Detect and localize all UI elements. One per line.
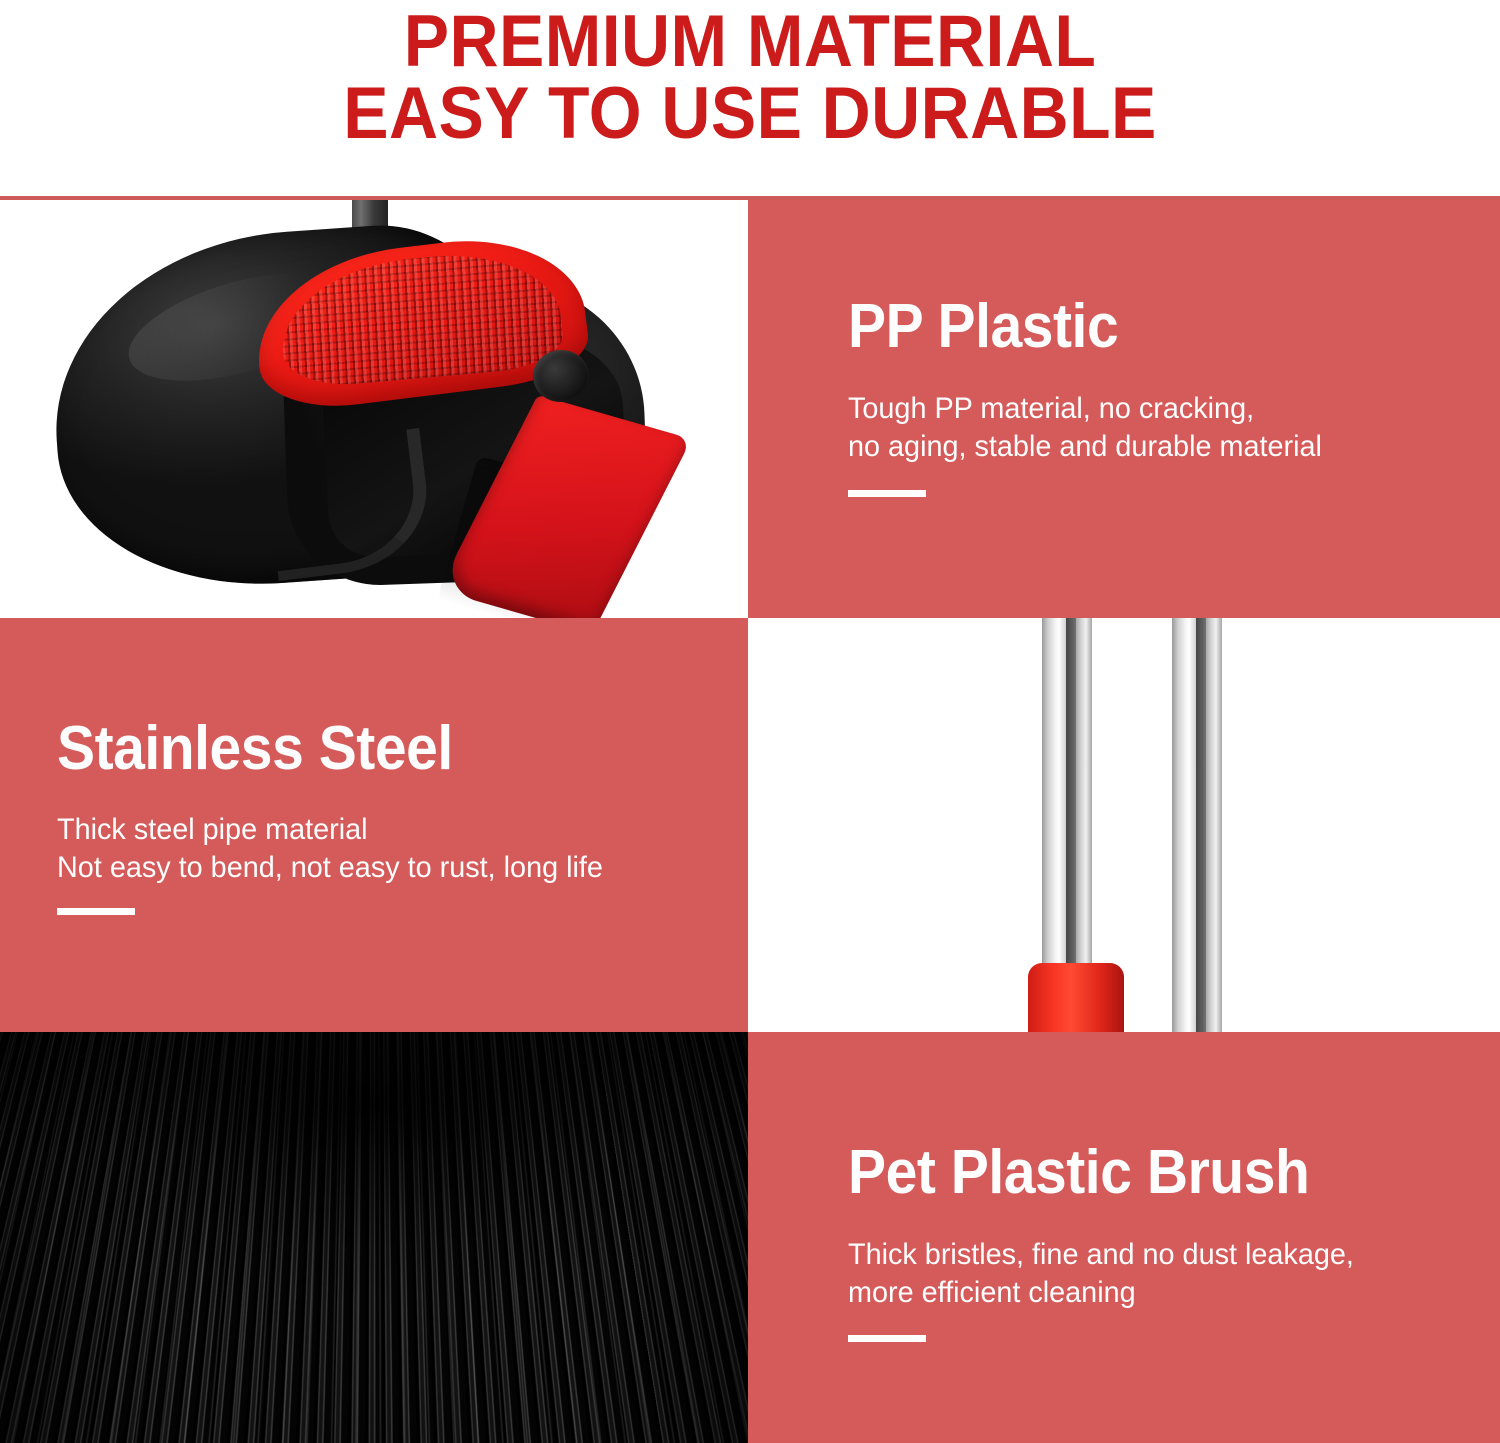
- steel-pole-right-shadow: [1196, 618, 1206, 1032]
- feature-cell-pp-plastic: PP Plastic Tough PP material, no crackin…: [748, 200, 1500, 618]
- bristle-vignette: [0, 1032, 748, 1443]
- photo-cell-dustpan: [0, 200, 748, 618]
- headline-line-2: EASY TO USE DURABLE: [53, 78, 1448, 150]
- steel-pole-left-shadow: [1066, 618, 1076, 970]
- photo-cell-broom-head: [748, 618, 1500, 1032]
- feature-body-pp-plastic: Tough PP material, no cracking, no aging…: [848, 390, 1322, 466]
- bristle-illustration: [0, 1032, 748, 1443]
- feature-text-pp-plastic: PP Plastic Tough PP material, no crackin…: [748, 200, 1500, 618]
- dustpan-body: [55, 222, 675, 612]
- feature-body-line-1: Thick bristles, fine and no dust leakage…: [848, 1236, 1354, 1274]
- feature-grid: PP Plastic Tough PP material, no crackin…: [0, 200, 1500, 1443]
- broom-head-illustration: [748, 618, 1500, 1032]
- feature-body-line-1: Thick steel pipe material: [57, 811, 603, 849]
- feature-cell-stainless-steel: Stainless Steel Thick steel pipe materia…: [0, 618, 748, 1032]
- feature-body-line-2: more efficient cleaning: [848, 1274, 1354, 1312]
- feature-body-line-2: Not easy to bend, not easy to rust, long…: [57, 849, 603, 887]
- headline-line-1: PREMIUM MATERIAL: [53, 6, 1448, 78]
- feature-underline-pp-plastic: [848, 490, 926, 497]
- dustpan-illustration: [0, 200, 748, 618]
- infographic-page: PREMIUM MATERIAL EASY TO USE DURABLE: [0, 0, 1500, 1443]
- feature-body-line-2: no aging, stable and durable material: [848, 428, 1322, 466]
- photo-cell-bristles: [0, 1032, 748, 1443]
- feature-title-stainless-steel: Stainless Steel: [57, 718, 453, 780]
- page-headline: PREMIUM MATERIAL EASY TO USE DURABLE: [53, 0, 1448, 196]
- feature-body-pet-plastic-brush: Thick bristles, fine and no dust leakage…: [848, 1236, 1354, 1312]
- feature-underline-stainless-steel: [57, 908, 135, 915]
- feature-body-stainless-steel: Thick steel pipe material Not easy to be…: [57, 811, 603, 887]
- feature-text-stainless-steel: Stainless Steel Thick steel pipe materia…: [0, 618, 748, 1032]
- feature-title-pet-plastic-brush: Pet Plastic Brush: [848, 1142, 1309, 1204]
- feature-body-line-1: Tough PP material, no cracking,: [848, 390, 1322, 428]
- feature-title-pp-plastic: PP Plastic: [848, 296, 1118, 358]
- feature-text-pet-plastic-brush: Pet Plastic Brush Thick bristles, fine a…: [748, 1032, 1500, 1443]
- red-collar-connector: [1028, 963, 1124, 1032]
- feature-cell-pet-plastic-brush: Pet Plastic Brush Thick bristles, fine a…: [748, 1032, 1500, 1443]
- feature-underline-pet-plastic-brush: [848, 1335, 926, 1342]
